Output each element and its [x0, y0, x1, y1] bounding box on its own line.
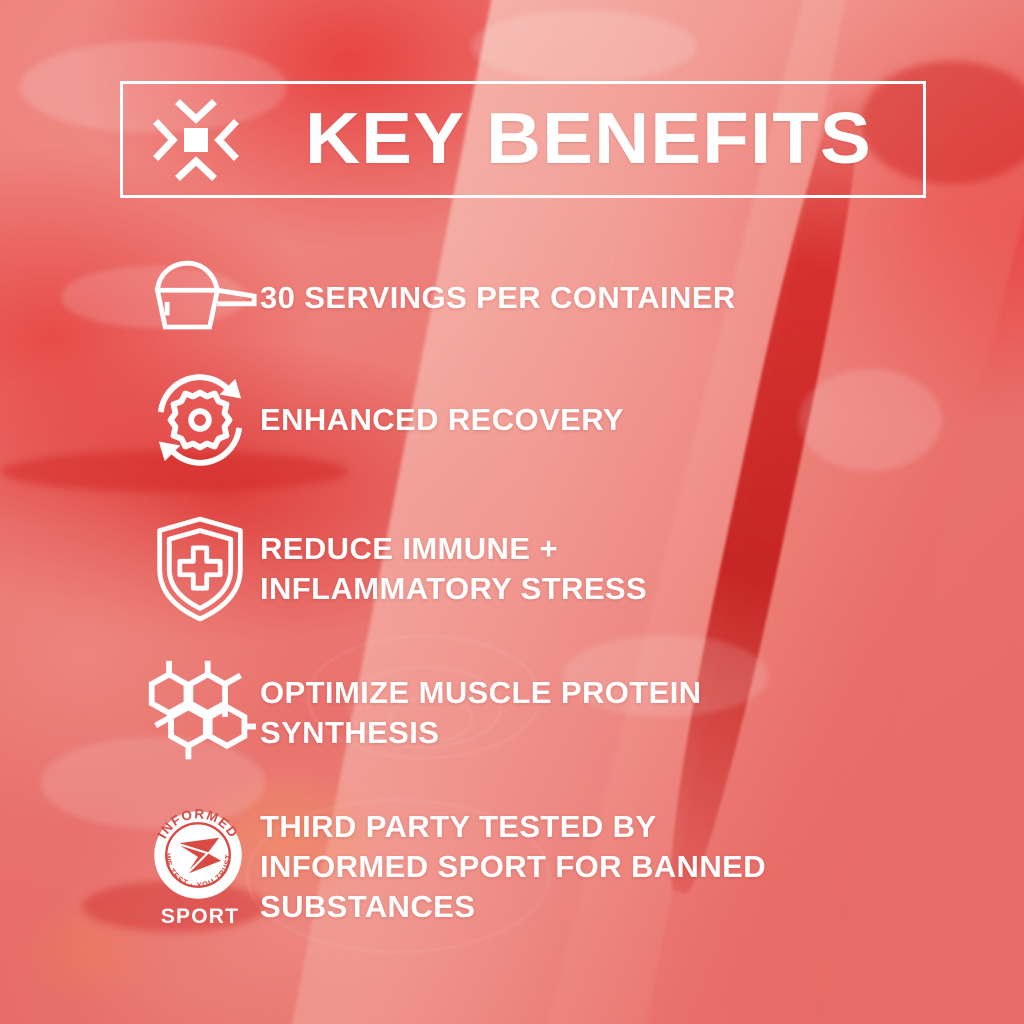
- informed-sport-badge-icon: INFORMED WE TEST · YOU TRUST SPORT: [140, 805, 260, 929]
- benefit-text: THIRD PARTY TESTED BY INFORMED SPORT FOR…: [260, 807, 766, 927]
- benefit-row-immune: REDUCE IMMUNE + INFLAMMATORY STRESS: [140, 512, 920, 626]
- benefit-text: REDUCE IMMUNE + INFLAMMATORY STRESS: [260, 529, 647, 609]
- gear-refresh-icon: [140, 371, 260, 469]
- benefit-text: OPTIMIZE MUSCLE PROTEIN SYNTHESIS: [260, 673, 702, 753]
- key-benefits-graphic: KEY BENEFITS 30 SERVINGS PER CONTAINER: [0, 0, 1024, 1024]
- benefit-row-recovery: ENHANCED RECOVERY: [140, 370, 920, 470]
- benefit-row-third-party-tested: INFORMED WE TEST · YOU TRUST SPORT THIRD…: [140, 796, 920, 938]
- benefit-row-servings: 30 SERVINGS PER CONTAINER: [140, 252, 920, 344]
- scoop-icon: [140, 259, 260, 337]
- benefit-text: ENHANCED RECOVERY: [260, 400, 624, 440]
- benefit-text: 30 SERVINGS PER CONTAINER: [260, 278, 736, 318]
- shield-plus-icon: [140, 515, 260, 623]
- molecule-hexagons-icon: [140, 657, 260, 769]
- benefit-row-synthesis: OPTIMIZE MUSCLE PROTEIN SYNTHESIS: [140, 656, 920, 770]
- page-title: KEY BENEFITS: [305, 95, 872, 183]
- badge-sport-label: SPORT: [148, 905, 252, 929]
- converge-arrows-square-icon: [148, 92, 244, 188]
